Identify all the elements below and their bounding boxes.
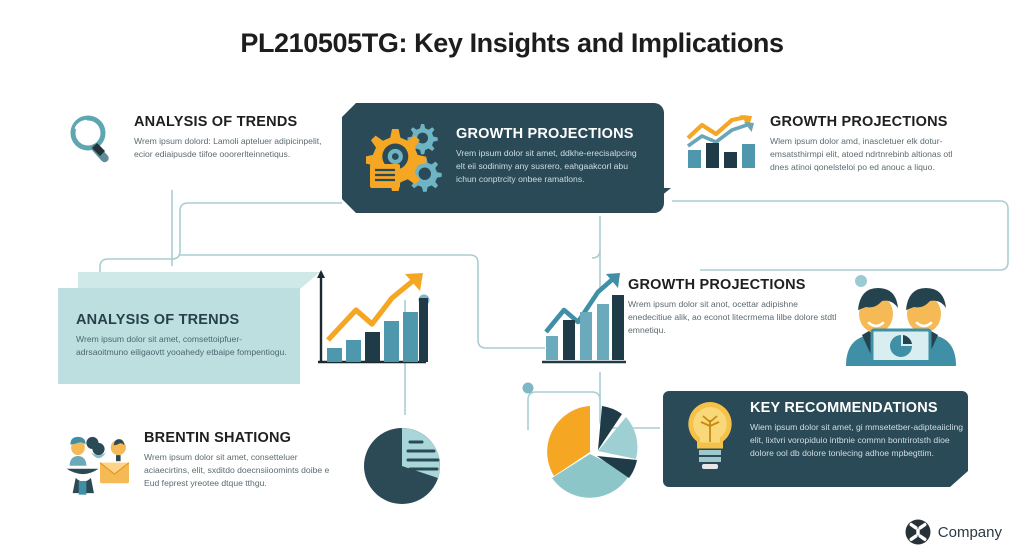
card-key-recommendations-content: KEY RECOMMENDATIONS Wiem ipsum dolor sit… — [682, 398, 974, 472]
card-growth-center-content: GROWTH PROJECTIONS Vrem ipsum dolor sit … — [366, 120, 648, 194]
lightbulb-icon — [682, 398, 738, 472]
card-growth-projections-top-right: GROWTH PROJECTIONS Wlem ipsum dolor amd,… — [684, 112, 974, 174]
card-analysis-of-trends-top: ANALYSIS OF TRENDS Wrem ipsum dolord: La… — [66, 112, 334, 166]
segmented-pie-icon — [536, 398, 648, 506]
callout-tail — [655, 188, 671, 201]
card-heading: ANALYSIS OF TRENDS — [76, 312, 284, 328]
company-logo: Company — [905, 519, 1002, 545]
ascending-bar-chart-icon — [310, 268, 430, 370]
card-heading: BRENTIN SHATIONG — [144, 430, 344, 446]
two-businessmen-laptop-icon — [832, 278, 970, 370]
card-analysis-of-trends-mid: ANALYSIS OF TRENDS Wrem ipsum dolor sit … — [58, 288, 300, 384]
magnifier-icon — [66, 112, 120, 166]
card-heading: GROWTH PROJECTIONS — [770, 114, 966, 130]
card-heading: GROWTH PROJECTIONS — [456, 126, 646, 142]
card-heading: KEY RECOMMENDATIONS — [750, 400, 968, 416]
card-body: Vrem ipsum dolor sit amet, ddkhe-erecisa… — [456, 147, 646, 186]
card-growth-projections-mid-right: GROWTH PROJECTIONS Wrem ipsum dolor sit … — [628, 277, 848, 337]
company-logo-text: Company — [938, 524, 1002, 541]
card-body: Wlem ipsum dolor amd, inascletuer elk do… — [770, 135, 966, 174]
card-body: Wrem ipsum dolor sit amet, comsettoipfue… — [76, 333, 288, 359]
gears-icon — [366, 120, 442, 194]
card-body: Wrem ipsum dolor sit anot, ocettar adipi… — [628, 298, 840, 337]
light-card-top-bevel — [78, 272, 320, 289]
card-body: Wiem ipsum dolor sit amet, gi mmsetetber… — [750, 421, 968, 460]
card-heading: ANALYSIS OF TRENDS — [134, 114, 330, 130]
pie-document-icon — [358, 420, 450, 512]
bar-chart-up-icon — [538, 270, 628, 370]
card-body: Wrem ipsum dolord: Lamoli apteluer adipi… — [134, 135, 330, 161]
team-mail-icon — [62, 426, 132, 504]
pinwheel-logo-icon — [905, 519, 931, 545]
card-heading: GROWTH PROJECTIONS — [628, 277, 848, 293]
card-body: Wrem ipsum dolor sit amet, consetteluer … — [144, 451, 344, 490]
card-brentin-shationg: BRENTIN SHATIONG Wrem ipsum dolor sit am… — [62, 426, 344, 504]
infographic-canvas: PL210505TG: Key Insights and Implication… — [0, 0, 1024, 559]
bar-chart-arrow-icon — [684, 112, 758, 170]
